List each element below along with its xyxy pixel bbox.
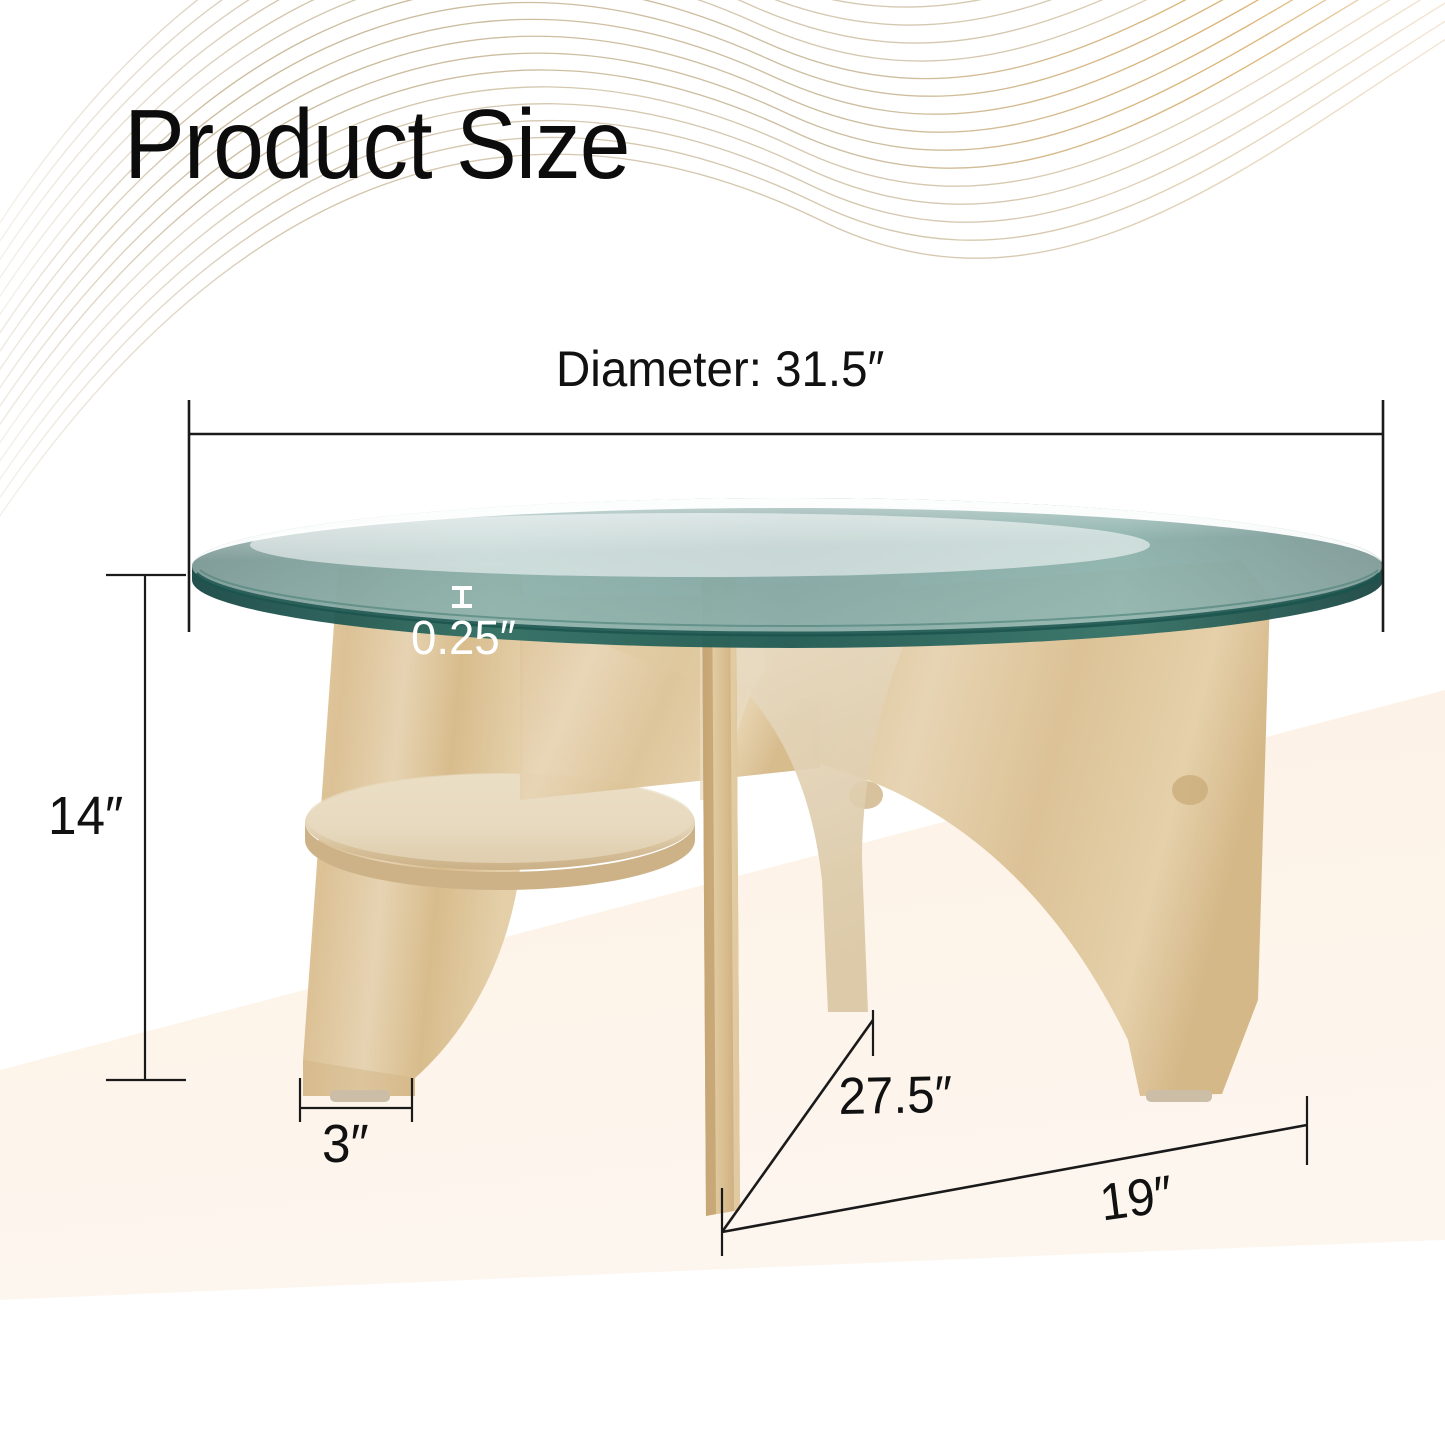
diameter-label: Diameter: 31.5″ — [556, 344, 884, 394]
width-dimension-line — [722, 1125, 1307, 1232]
glass-thickness-label: 0.25″ — [411, 615, 516, 663]
base-width-label: 19″ — [1097, 1168, 1175, 1230]
glass-thickness-marker — [452, 588, 472, 606]
height-label: 14″ — [48, 789, 123, 843]
foot-width-label: 3″ — [322, 1117, 369, 1171]
depth-dimension-line — [722, 1020, 873, 1232]
product-size-diagram: Product Size — [0, 0, 1445, 1445]
base-depth-label: 27.5″ — [838, 1069, 952, 1123]
dimension-lines — [0, 0, 1445, 1445]
